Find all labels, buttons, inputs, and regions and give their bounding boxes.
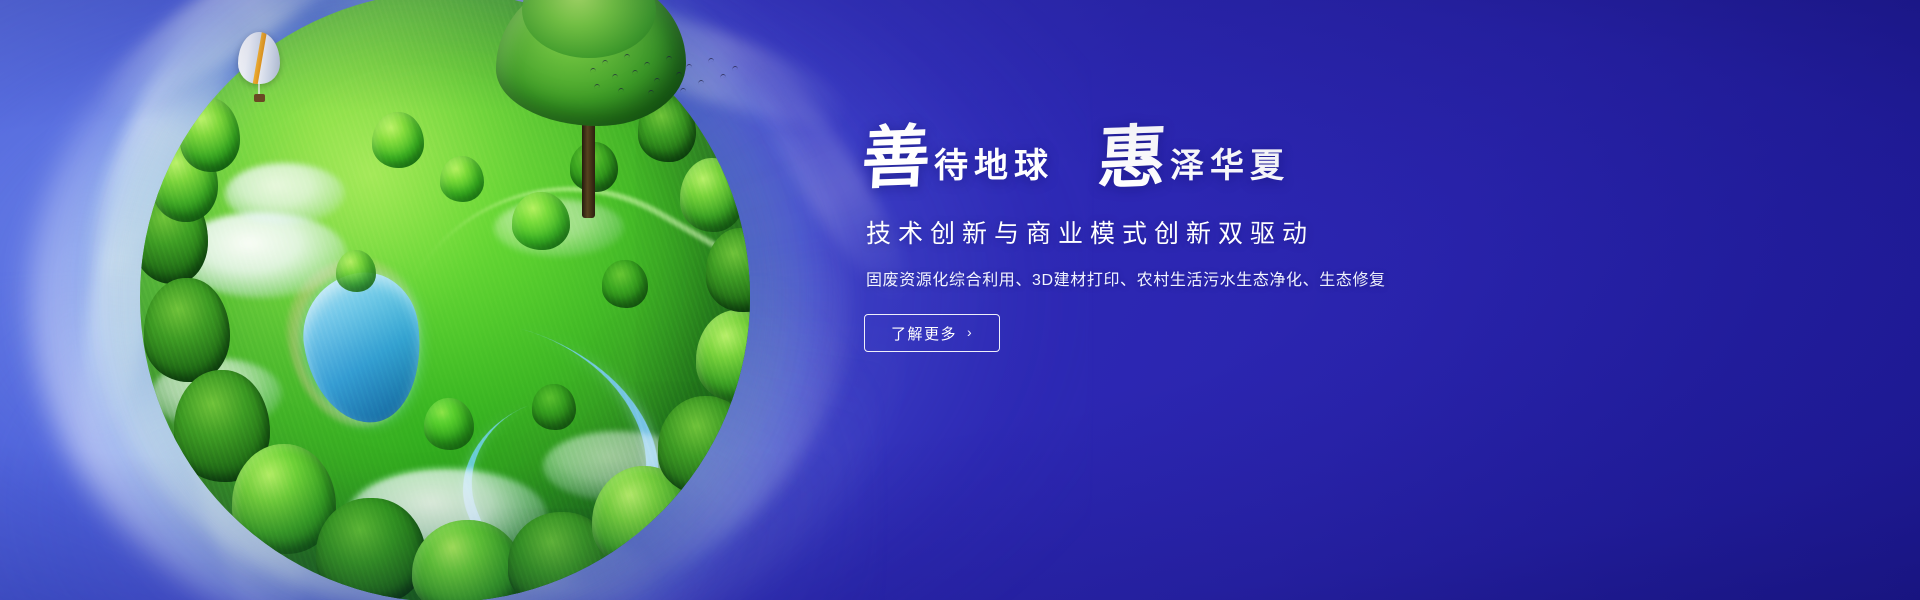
headline: 善 待地球 惠 泽华夏 — [862, 124, 1562, 192]
rim-tree — [232, 444, 336, 554]
rim-tree — [174, 370, 270, 482]
surface-cloud — [225, 163, 345, 225]
rim-tree — [706, 228, 750, 312]
surface-cloud — [177, 212, 347, 298]
canopy-cluster — [424, 398, 474, 450]
river-branch — [439, 382, 636, 562]
rim-tree — [508, 512, 616, 600]
rim-tree — [412, 520, 524, 600]
bird-flock — [588, 48, 748, 100]
rim-tree — [316, 498, 426, 600]
rim-tree — [180, 98, 240, 172]
chevron-right-icon: › — [967, 325, 973, 339]
lake — [295, 265, 431, 430]
rim-tree — [658, 396, 750, 496]
canopy-cluster — [372, 112, 424, 168]
canopy-cluster — [440, 156, 484, 202]
canopy-cluster — [602, 260, 648, 308]
learn-more-label: 了解更多 — [891, 323, 957, 344]
lake-shore — [276, 249, 432, 436]
river — [362, 298, 689, 568]
headline-rest-1: 待地球 — [934, 149, 1054, 183]
headline-brush-char-2: 惠 — [1096, 123, 1168, 193]
hot-air-balloon — [238, 32, 280, 106]
balloon-envelope — [238, 32, 280, 84]
headline-rest-2: 泽华夏 — [1170, 149, 1290, 183]
surface-cloud — [347, 468, 547, 564]
headline-brush-char-1: 善 — [860, 123, 932, 193]
canopy-cluster — [336, 250, 376, 292]
hero-tree — [496, 0, 686, 226]
description: 固废资源化综合利用、3D建材打印、农村生活污水生态净化、生态修复 — [866, 266, 1562, 290]
rim-tree — [140, 188, 208, 284]
banner-copy: 善 待地球 惠 泽华夏 技术创新与商业模式创新双驱动 固废资源化综合利用、3D建… — [862, 124, 1562, 352]
rim-tree — [152, 140, 218, 222]
rim-tree — [144, 278, 230, 382]
learn-more-button[interactable]: 了解更多 › — [864, 314, 1000, 352]
canopy-cluster — [532, 384, 576, 430]
rim-tree — [696, 310, 750, 402]
hero-banner: 善 待地球 惠 泽华夏 技术创新与商业模式创新双驱动 固废资源化综合利用、3D建… — [0, 0, 1920, 600]
subtitle: 技术创新与商业模式创新双驱动 — [866, 214, 1562, 250]
rim-tree — [680, 158, 744, 232]
balloon-basket — [254, 94, 265, 102]
surface-cloud — [152, 358, 282, 430]
surface-cloud — [543, 431, 693, 501]
rim-tree — [592, 466, 696, 570]
